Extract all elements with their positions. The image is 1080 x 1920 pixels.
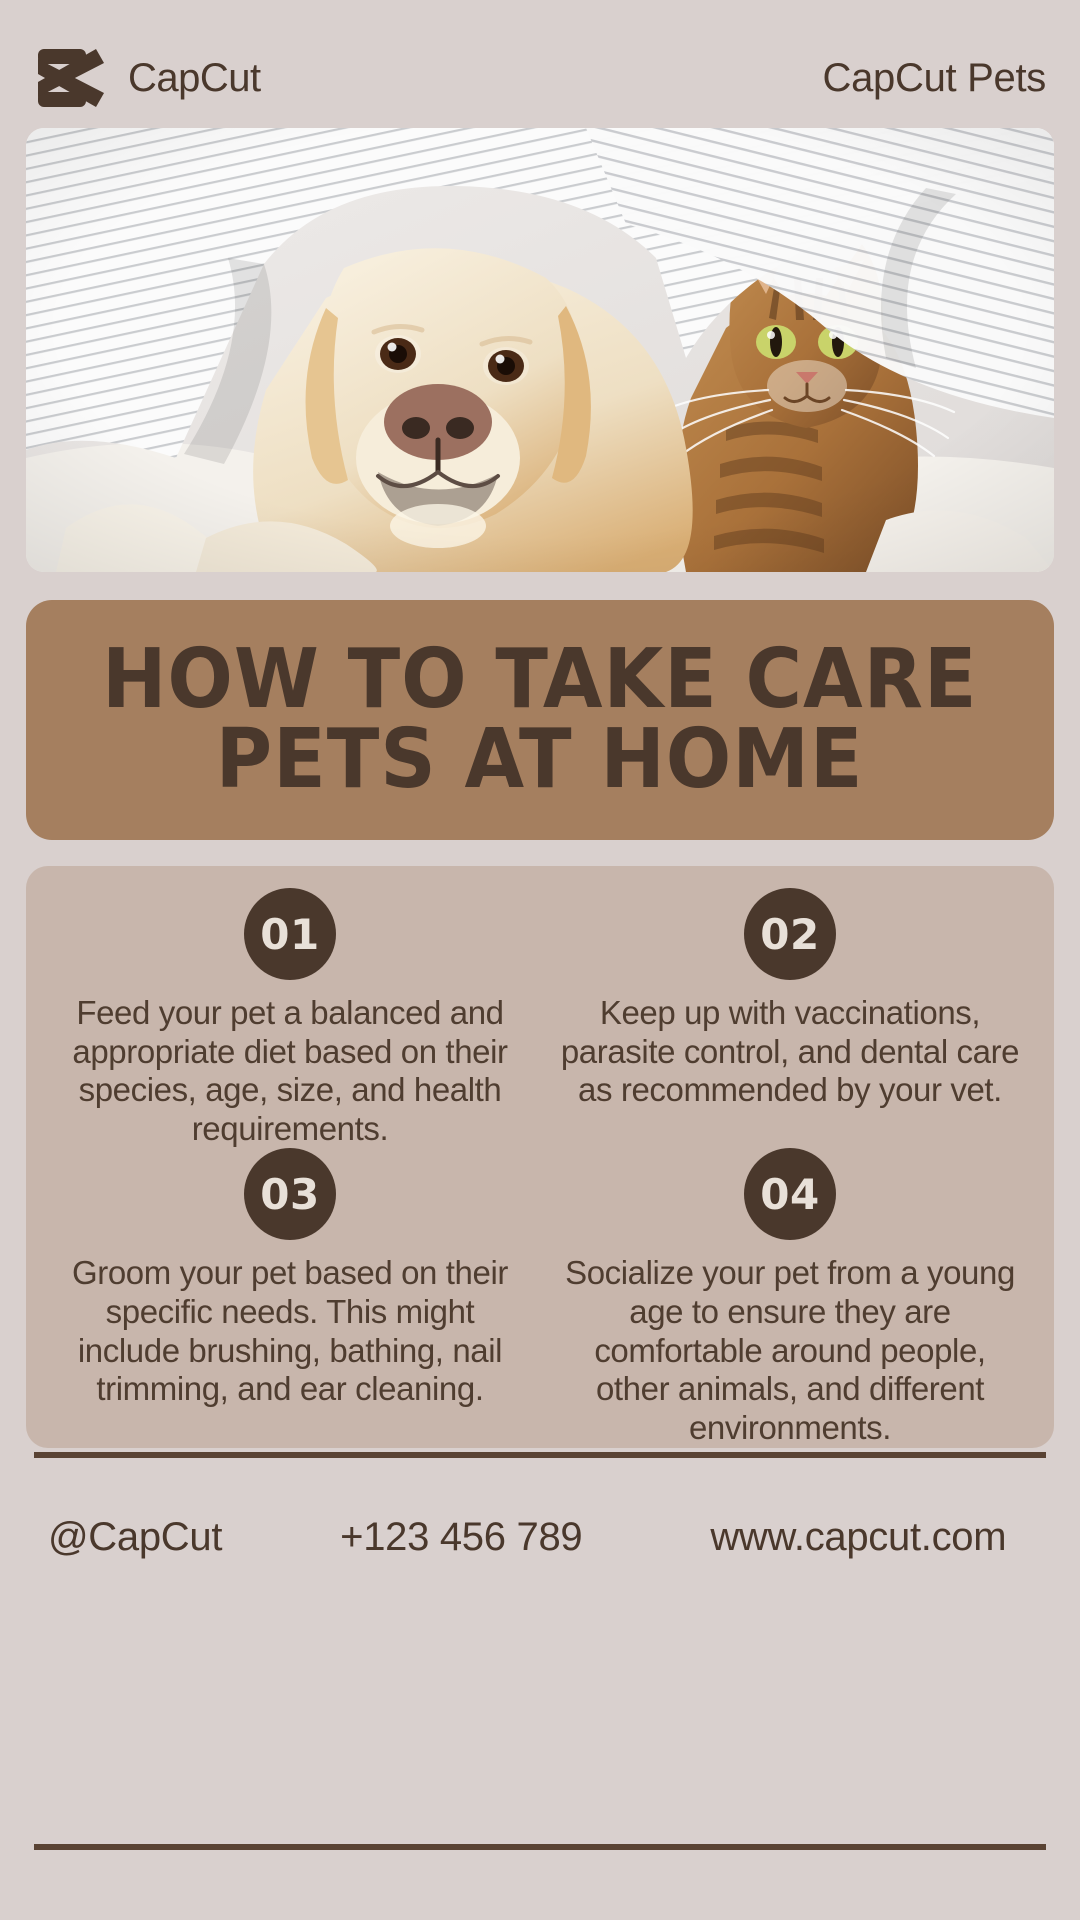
steps-card: 01 Feed your pet a balanced and appropri… (26, 866, 1054, 1448)
step-text-01: Feed your pet a balanced and appropriate… (56, 994, 524, 1148)
footer-divider-top (34, 1452, 1046, 1458)
page-title-line1: HOW TO TAKE CARE (102, 640, 978, 720)
infographic-page: CapCut CapCut Pets (0, 0, 1080, 1920)
step-item-01: 01 Feed your pet a balanced and appropri… (40, 888, 540, 1148)
step-text-03: Groom your pet based on their specific n… (56, 1254, 524, 1408)
brand: CapCut (34, 47, 261, 109)
page-title-line2: PETS AT HOME (216, 720, 864, 800)
step-item-04: 04 Socialize your pet from a young age t… (540, 1148, 1040, 1447)
header: CapCut CapCut Pets (34, 44, 1046, 112)
brand-name: CapCut (128, 58, 261, 98)
step-badge-03: 03 (244, 1148, 336, 1240)
title-banner: HOW TO TAKE CARE PETS AT HOME (26, 600, 1054, 840)
step-item-02: 02 Keep up with vaccinations, parasite c… (540, 888, 1040, 1148)
step-text-02: Keep up with vaccinations, parasite cont… (556, 994, 1024, 1110)
footer: @CapCut +123 456 789 www.capcut.com (34, 1492, 1046, 1582)
step-text-04: Socialize your pet from a young age to e… (556, 1254, 1024, 1447)
step-badge-01: 01 (244, 888, 336, 980)
steps-grid: 01 Feed your pet a balanced and appropri… (40, 888, 1040, 1430)
footer-phone[interactable]: +123 456 789 (340, 1515, 582, 1560)
footer-social-handle[interactable]: @CapCut (48, 1515, 222, 1560)
step-item-03: 03 Groom your pet based on their specifi… (40, 1148, 540, 1447)
header-right-label: CapCut Pets (823, 58, 1046, 98)
capcut-logo-icon (34, 47, 108, 109)
hero-photo (26, 128, 1054, 572)
footer-website[interactable]: www.capcut.com (710, 1515, 1006, 1560)
step-badge-02: 02 (744, 888, 836, 980)
footer-divider-bottom (34, 1844, 1046, 1850)
step-badge-04: 04 (744, 1148, 836, 1240)
